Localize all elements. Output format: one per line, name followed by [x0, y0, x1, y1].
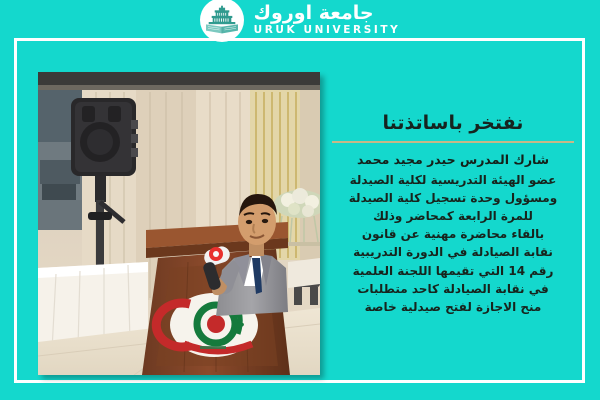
- poster-header: جامعة اوروك URUK UNIVERSITY: [0, 0, 600, 38]
- body-line: للمرة الرابعة كمحاضر وذلك: [328, 207, 578, 225]
- body-line: بالقاء محاضرة مهنية عن قانون: [328, 225, 578, 243]
- body-line: عضو الهيئة التدريسية لكلية الصيدلة: [328, 171, 578, 189]
- headline: نفتخر باساتذتنا: [328, 112, 578, 135]
- body-text: عضو الهيئة التدريسية لكلية الصيدلة ومسؤو…: [328, 171, 578, 317]
- brand-lockup: جامعة اوروك URUK UNIVERSITY: [254, 4, 401, 35]
- brand-name-english: URUK UNIVERSITY: [254, 25, 401, 36]
- announcement-text-block: نفتخر باساتذتنا شارك المدرس حيدر مجيد مح…: [328, 112, 578, 316]
- body-line: رقم 14 التي تقيمها اللجنة العلمية: [328, 262, 578, 280]
- body-line: منح الاجازة لفتح صيدلية خاصة: [328, 298, 578, 316]
- body-line: ومسؤول وحدة تسجيل كلية الصيدلة: [328, 189, 578, 207]
- body-line: نقابة الصيادلة في الدورة التدريبية: [328, 243, 578, 261]
- brand-name-arabic: جامعة اوروك: [254, 4, 374, 24]
- uruk-building-book-icon: [204, 5, 240, 35]
- lecturer-at-podium-photo: [38, 72, 320, 375]
- body-line: في نقابة الصيادلة كاحد متطلبات: [328, 280, 578, 298]
- lead-sentence: شارك المدرس حيدر مجيد محمد: [328, 151, 578, 170]
- poster-canvas: جامعة اوروك URUK UNIVERSITY: [0, 0, 600, 400]
- university-logo-badge: [200, 0, 244, 42]
- headline-divider: [332, 141, 574, 143]
